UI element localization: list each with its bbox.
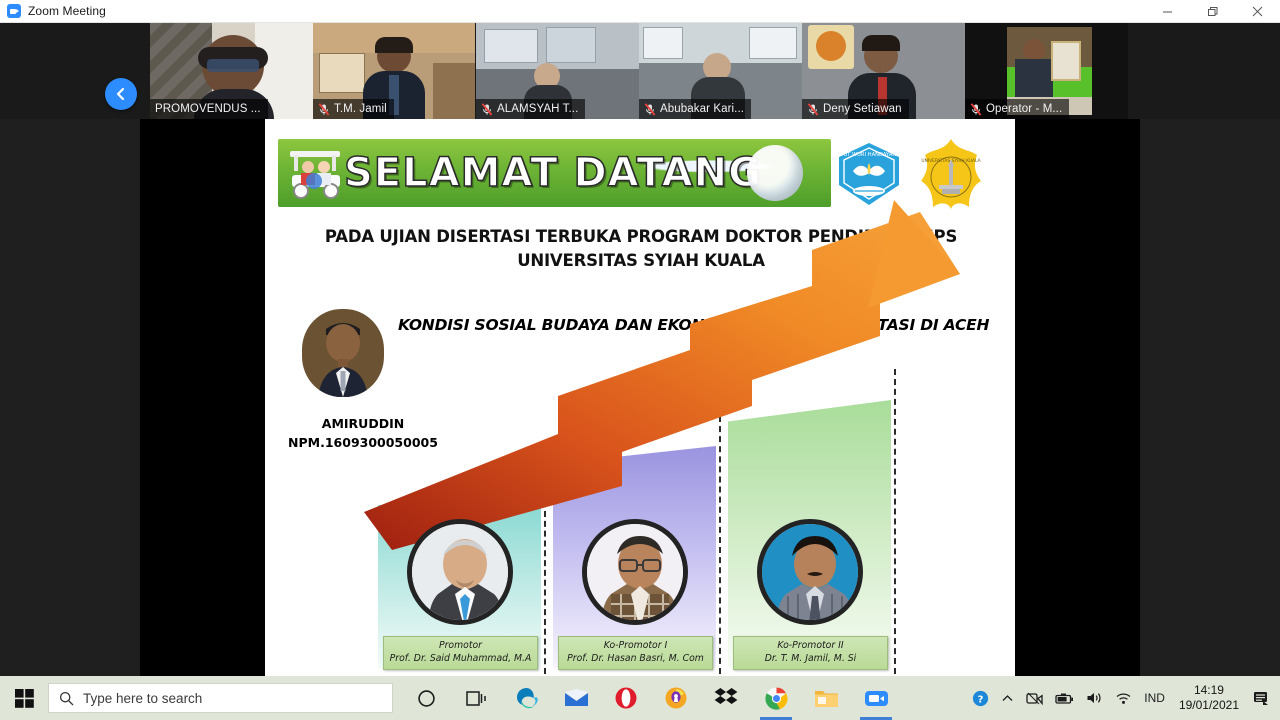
volume-icon	[1086, 691, 1103, 705]
participant-tile[interactable]: ALAMSYAH T...	[476, 23, 639, 119]
participant-name: Deny Setiawan	[823, 103, 902, 115]
search-input[interactable]: Type here to search	[48, 683, 393, 713]
participant-name: PROMOVENDUS ...	[155, 103, 261, 115]
window-title: Zoom Meeting	[28, 4, 106, 18]
cortana-icon	[417, 689, 436, 708]
minimize-button[interactable]	[1145, 0, 1190, 23]
participant-nameplate: T.M. Jamil	[313, 99, 394, 119]
growth-arrow-icon	[360, 334, 960, 544]
promoter-role: Promotor	[386, 640, 535, 653]
mic-muted-icon	[807, 103, 819, 116]
chevron-up-icon	[1001, 692, 1014, 705]
battery-icon	[1055, 692, 1074, 705]
search-icon	[59, 691, 74, 706]
zoom-icon	[864, 688, 889, 709]
help-icon: ?	[972, 690, 989, 707]
promoter-photo-2	[582, 519, 688, 625]
promoter-name: Prof. Dr. Hasan Basri, M. Com	[561, 653, 710, 666]
participant-name: Operator - M...	[986, 103, 1062, 115]
start-button[interactable]	[0, 676, 48, 720]
participant-name: Abubakar Kari...	[660, 103, 744, 115]
task-view-button[interactable]	[451, 676, 501, 720]
participant-tile[interactable]: Abubakar Kari...	[639, 23, 802, 119]
microsoft-edge-button[interactable]	[501, 676, 551, 720]
file-explorer-icon	[814, 688, 839, 709]
promoter-role: Ko-Promotor I	[561, 640, 710, 653]
windows-logo-icon	[15, 689, 34, 708]
chevron-left-icon	[114, 87, 128, 101]
windows-taskbar: Type here to search	[0, 676, 1280, 720]
dropbox-icon	[714, 687, 738, 709]
mail-icon	[564, 688, 589, 708]
previous-participants-button[interactable]	[105, 78, 137, 110]
opera-button[interactable]	[601, 676, 651, 720]
wifi-icon	[1115, 691, 1132, 705]
clock-time: 14:19	[1194, 683, 1224, 698]
avast-icon	[664, 686, 688, 710]
participant-nameplate: Deny Setiawan	[802, 99, 909, 119]
google-chrome-icon	[764, 686, 789, 711]
promoter-photo-1	[407, 519, 513, 625]
system-tray: ?	[966, 676, 1280, 720]
promoter-label-1: Promotor Prof. Dr. Said Muhammad, M.A	[383, 636, 538, 670]
camera-tray-button[interactable]	[1020, 676, 1049, 720]
action-center-button[interactable]	[1247, 676, 1276, 720]
promoter-role: Ko-Promotor II	[736, 640, 885, 653]
avast-button[interactable]	[651, 676, 701, 720]
battery-button[interactable]	[1049, 676, 1080, 720]
dropbox-button[interactable]	[701, 676, 751, 720]
shared-screen-area[interactable]: SELAMAT DATANG TUT WURI HANDAYANI UNIVER…	[140, 119, 1140, 676]
mic-muted-icon	[970, 103, 982, 116]
mic-muted-icon	[481, 103, 493, 116]
microsoft-edge-icon	[514, 686, 539, 711]
participant-nameplate: Operator - M...	[965, 99, 1069, 119]
participant-nameplate: Abubakar Kari...	[639, 99, 751, 119]
search-placeholder: Type here to search	[83, 691, 202, 706]
mic-muted-icon	[318, 103, 330, 116]
participant-nameplate: PROMOVENDUS ...	[150, 99, 268, 119]
help-button[interactable]: ?	[966, 676, 995, 720]
participant-tile[interactable]: Deny Setiawan	[802, 23, 965, 119]
opera-icon	[614, 686, 638, 710]
restore-button[interactable]	[1190, 0, 1235, 23]
window-title-bar: Zoom Meeting	[0, 0, 1280, 23]
close-button[interactable]	[1235, 0, 1280, 23]
zoom-button[interactable]	[851, 676, 901, 720]
show-hidden-icons-button[interactable]	[995, 676, 1020, 720]
clock[interactable]: 14:19 19/01/2021	[1171, 676, 1247, 720]
promoter-photo-3	[757, 519, 863, 625]
svg-text:?: ?	[978, 694, 984, 705]
promoter-name: Prof. Dr. Said Muhammad, M.A	[386, 653, 535, 666]
file-explorer-button[interactable]	[801, 676, 851, 720]
participant-tile[interactable]: T.M. Jamil	[313, 23, 475, 119]
mic-muted-icon	[644, 103, 656, 116]
taskbar-apps	[401, 676, 901, 720]
wifi-button[interactable]	[1109, 676, 1138, 720]
participant-nameplate: ALAMSYAH T...	[476, 99, 585, 119]
zoom-icon	[7, 4, 21, 18]
task-view-icon	[466, 690, 487, 707]
mail-button[interactable]	[551, 676, 601, 720]
language-indicator[interactable]: IND	[1138, 676, 1171, 720]
promoter-name: Dr. T. M. Jamil, M. Si	[736, 653, 885, 666]
participant-tile[interactable]: PROMOVENDUS ...	[150, 23, 313, 119]
camera-icon	[1026, 691, 1043, 705]
window-controls	[1145, 0, 1280, 23]
participant-filmstrip: PROMOVENDUS ...	[0, 23, 1280, 119]
presentation-slide: SELAMAT DATANG TUT WURI HANDAYANI UNIVER…	[265, 119, 1015, 676]
zoom-meeting-window: PROMOVENDUS ...	[0, 23, 1280, 676]
participant-tile[interactable]: Operator - M...	[965, 23, 1128, 119]
promoter-label-2: Ko-Promotor I Prof. Dr. Hasan Basri, M. …	[558, 636, 713, 670]
participant-name: ALAMSYAH T...	[497, 103, 578, 115]
cortana-button[interactable]	[401, 676, 451, 720]
notifications-icon	[1253, 690, 1270, 706]
participant-name: T.M. Jamil	[334, 103, 387, 115]
promoter-label-3: Ko-Promotor II Dr. T. M. Jamil, M. Si	[733, 636, 888, 670]
clock-date: 19/01/2021	[1179, 698, 1239, 713]
google-chrome-button[interactable]	[751, 676, 801, 720]
volume-button[interactable]	[1080, 676, 1109, 720]
